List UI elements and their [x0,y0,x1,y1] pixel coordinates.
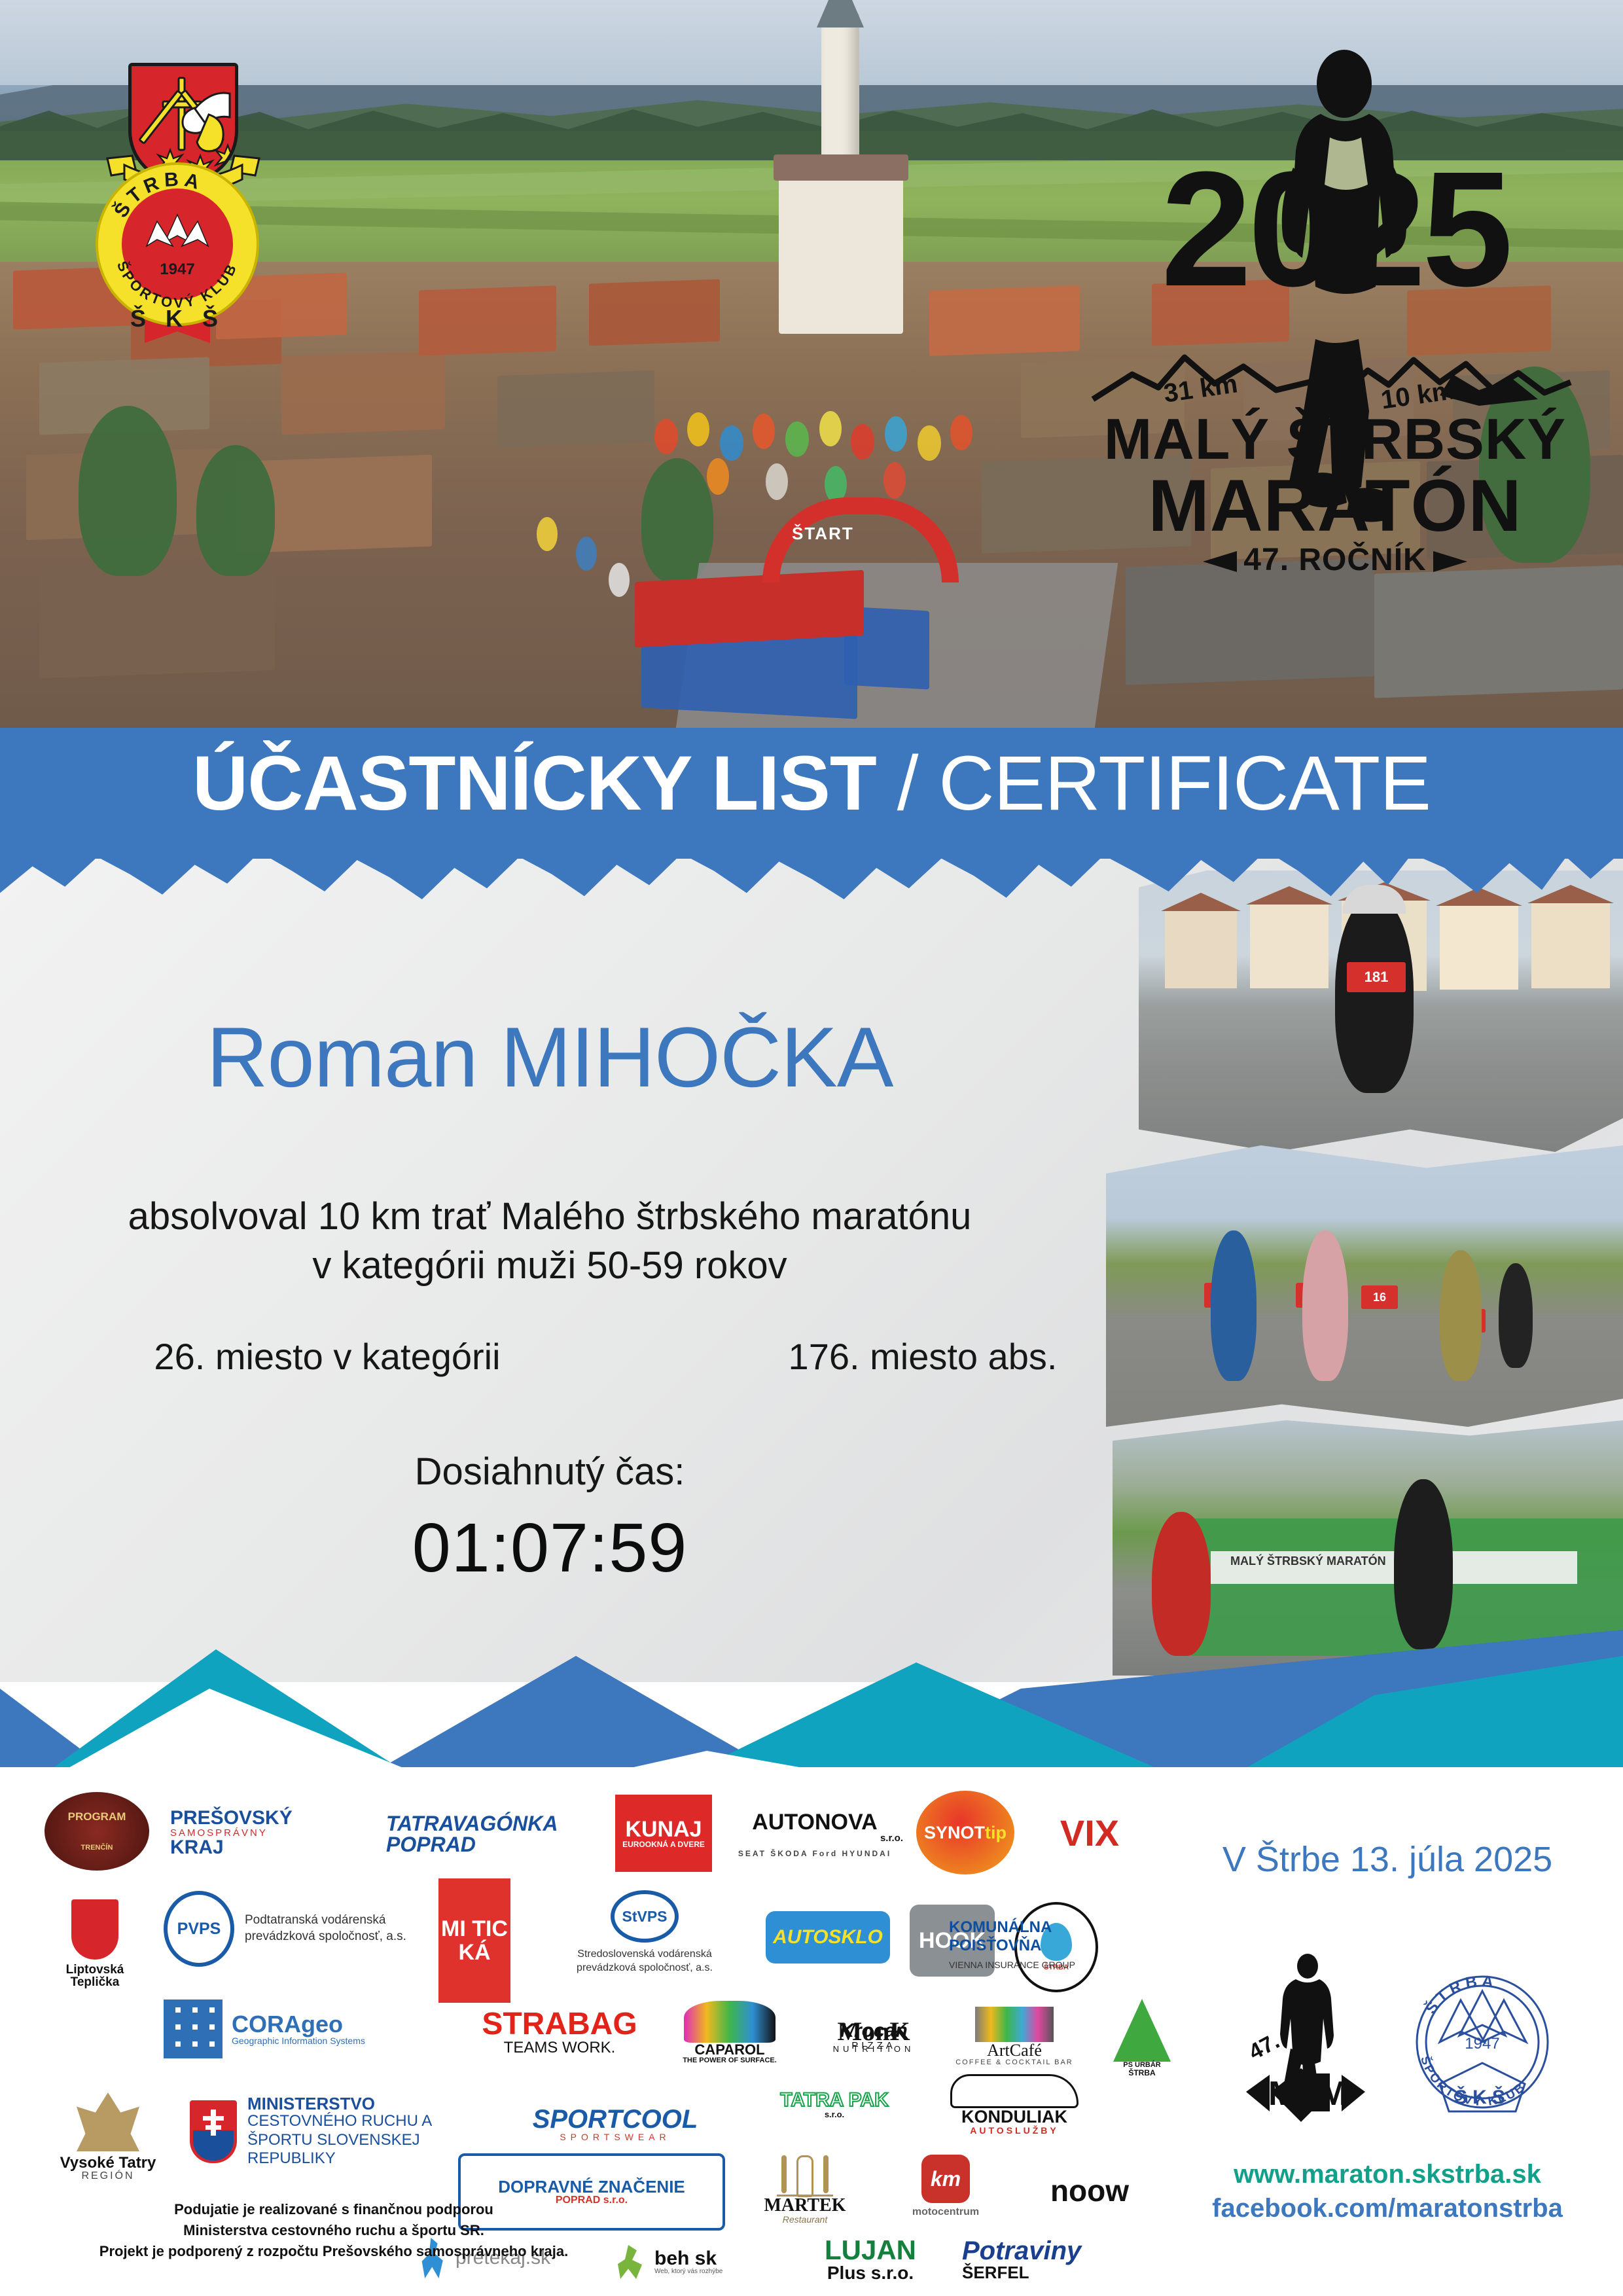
msm-runner-icon: 47. MŠM [1230,1950,1381,2134]
sponsor-sub: TEAMS WORK. [504,2040,616,2056]
sks-stamp-icon: ŠTRBA ŠPORTOVÝ KLUB 1947 ŠKŠ [1400,1944,1564,2134]
sponsor-sub: SPORTSWEAR [560,2132,670,2142]
sponsor-sub: CESTOVNÉHO RUCHU A ŠPORTU SLOVENSKEJ REP… [247,2112,463,2168]
sponsor-logo-monk-nutrition[interactable]: MonK NUTRITION [811,2000,936,2072]
sponsor-sub: TRENČÍN [81,1844,113,1852]
support-line-3: Projekt je podporený z rozpočtu Prešovsk… [92,2241,576,2262]
funding-support-text: Podujatie je realizované s finančnou pod… [92,2199,576,2262]
sponsor-sub: NUTRITION [833,2045,915,2053]
sponsor-logo-artcafe[interactable]: ArtCafé COFFEE & COCKTAIL BAR [949,1994,1080,2079]
sponsor-name: AUTONOVA [752,1811,877,1833]
sponsor-grid: PROGRAM TRENČÍN PREŠOVSKÝ SAMOSPRÁVNY KR… [39,1780,1152,2278]
crowd-person [819,411,842,446]
svg-text:ŠTRBA: ŠTRBA [1421,1972,1498,2017]
sponsor-logo-km-motocentrum[interactable]: km motocentrum [883,2147,1008,2225]
title-english: CERTIFICATE [938,740,1431,827]
sks-mountain-icon [143,213,212,260]
sponsor-name: Potraviny [962,2238,1081,2264]
msm-edition-text: 47. [1245,2028,1284,2065]
sponsor-sub: s.r.o. [825,2110,844,2119]
sponsor-sub: Plus s.r.o. [827,2264,914,2282]
title-slovak: ÚČASTNÍCKY LIST [192,740,876,827]
sponsor-sub: motocentrum [912,2207,979,2217]
sponsor-sub: AUTOSLUŽBY [970,2126,1058,2135]
sponsor-sub: REGIÓN [81,2171,134,2181]
sponsor-name: STRABAG [482,2009,637,2040]
sponsor-sub: Web, ktorý vás rozhýbe [654,2269,722,2275]
crowd-person [766,463,788,500]
sponsor-logo-konduliak[interactable]: KONDULIAK AUTOSLUŽBY [929,2068,1099,2140]
certificate-page: ŠTART [0,0,1623,2296]
sponsor-logo-vysoke-tatry[interactable]: Vysoké Tatry REGIÓN [46,2081,170,2193]
sponsor-name: PREŠOVSKÝ [170,1808,293,1828]
sponsor-name: KONDULIAK [961,2108,1067,2126]
crowd-person [654,419,678,454]
sponsor-name: CORAgeo [232,2013,343,2036]
sponsor-sub: VIENNA INSURANCE GROUP [949,1960,1075,1969]
runner-silhouette-icon [1264,46,1421,530]
sponsor-logo-caparol[interactable]: CAPAROL THE POWER OF SURFACE. [668,1990,792,2075]
tree [196,445,275,576]
stamp-year: 1947 [1465,2035,1499,2053]
sponsor-name: PROGRAM [68,1811,126,1822]
sponsor-logo-autonova[interactable]: AUTONOVA s.r.o. SEAT ŠKODA Ford HYUNDAI [726,1793,903,1874]
sponsor-logo-liptovska-teplicka[interactable]: Liptovská Teplička [46,1892,144,1996]
sponsor-logo-beh-sk[interactable]: beh sk Web, ktorý vás rozhýbe [615,2236,779,2288]
msm-abbrev-text: MŠM [1268,2074,1347,2113]
crowd-person [609,563,630,597]
sponsor-name: ArtCafé [987,2042,1042,2059]
page-title: ÚČASTNÍCKY LIST / CERTIFICATE [0,745,1623,822]
church-roof [774,154,908,181]
sponsor-logo-sportcool[interactable]: SPORTCOOL SPORTSWEAR [524,2088,707,2160]
title-separator: / [897,740,918,827]
description-line-1: absolvoval 10 km trať Malého štrbského m… [0,1194,1099,1238]
crowd-person [707,458,729,495]
sponsor-brands: SEAT ŠKODA Ford HYUNDAI [738,1850,891,1857]
crowd-person [950,415,972,450]
start-arch-label: ŠTART [792,524,854,544]
sponsor-sub: COFFEE & COCKTAIL BAR [955,2059,1073,2066]
sks-year: 1947 [96,260,259,279]
sponsor-sub: Teplička [71,1976,120,1988]
sponsor-logo-miticka[interactable]: MI TIC KÁ [438,1878,510,2003]
sponsor-logo-tatrapak[interactable]: TATRA PAK s.r.o. [766,2075,903,2134]
collage-photo-runners: 122 135 16 173 [1106,1145,1623,1427]
sponsor-name: MI TIC KÁ [438,1917,510,1964]
sks-stamp-logo: ŠTRBA ŠPORTOVÝ KLUB 1947 ŠKŠ [1400,1944,1564,2134]
crowd-person [720,425,743,461]
sponsor-sub: Restaurant [783,2215,827,2224]
facebook-url[interactable]: facebook.com/maratonstrba [1171,2194,1603,2223]
sponsor-logo-komunalna-poistovna[interactable]: KOMUNÁLNA POISŤOVŇA VIENNA INSURANCE GRO… [949,1905,1145,1983]
crowd-person [753,414,775,449]
sponsor-logo-vix[interactable]: VIX [1034,1791,1145,1876]
sponsor-name: VIX [1060,1815,1119,1852]
sponsor-sub: THE POWER OF SURFACE. [683,2057,777,2064]
sponsor-name: AUTOSKLO [773,1928,883,1947]
athlete-name: Roman MIHOČKA [0,1008,1099,1106]
sponsor-logo-synottip[interactable]: SYNOTtip [916,1791,1014,1874]
sponsor-logo-strabag[interactable]: STRABAG TEAMS WORK. [471,1996,648,2068]
sponsor-logo-potraviny-serfel[interactable]: Potraviny ŠERFEL [962,2227,1145,2292]
sponsor-name: Vysoké Tatry [60,2155,156,2171]
hero-photo: ŠTART [0,0,1623,733]
sponsor-sub: tip [985,1824,1007,1842]
sponsor-logo-ministerstvo[interactable]: MINISTERSTVO CESTOVNÉHO RUCHU A ŠPORTU S… [190,2083,504,2181]
website-url[interactable]: www.maraton.skstrba.sk [1171,2160,1603,2189]
finish-time-label: Dosiahnutý čas: [0,1450,1099,1494]
marathon-masthead: 2025 31 km 10 km [1086,39,1584,602]
date-and-place: V Štrbe 13. júla 2025 [1171,1839,1603,1880]
sponsor-name: CAPAROL [694,2043,764,2057]
church-body [779,170,903,334]
photo-collage: 181 122 135 16 173 MALÝ ŠTRBSKÝ MARATÓN [1106,864,1623,1676]
sponsor-name: beh sk [654,2249,717,2269]
crowd-person [918,425,941,461]
sponsor-name: MARTEK [764,2197,846,2215]
place-absolute: 176. miesto abs. [694,1335,1152,1378]
pvps-badge: PVPS [164,1891,234,1967]
place-in-category: 26. miesto v kategórii [72,1335,582,1378]
race-bib-number: 181 [1347,962,1406,992]
sponsor-name: MonK [837,2018,910,2045]
footer-right-zone: V Štrbe 13. júla 2025 47. MŠM [1171,1793,1603,2278]
sponsor-name: PS URBÁR [1123,2062,1160,2069]
sponsor-logo-corageo[interactable]: CORAgeo Geographic Information Systems [164,1990,438,2068]
sponsor-sub: Stredoslovenská vodárenská prevádzková s… [546,1948,743,1975]
sponsor-name: LUJAN [825,2236,916,2264]
sponsor-footer: PROGRAM TRENČÍN PREŠOVSKÝ SAMOSPRÁVNY KR… [0,1767,1623,2296]
crowd-person [851,424,874,459]
sponsor-sub: POPRAD [386,1834,476,1855]
sponsor-name: SYNOT [924,1824,985,1842]
sponsor-sub: ŠERFEL [962,2264,1029,2281]
sponsor-sub: Geographic Information Systems [232,2036,365,2045]
sponsor-sub: Podtatranská vodárenská prevádzková spol… [245,1912,428,1945]
crowd-person [785,422,809,457]
stamp-abbrev: ŠKŠ [1454,2086,1510,2108]
title-band: ÚČASTNÍCKY LIST / CERTIFICATE [0,728,1623,859]
sponsor-logo-stvps[interactable]: StVPS Stredoslovenská vodárenská prevádz… [537,1890,753,1975]
sponsor-logo-pvps[interactable]: PVPS Podtatranská vodárenská prevádzková… [164,1893,438,1965]
description-line-2: v kategórii muži 50-59 rokov [0,1244,1099,1287]
sponsor-logo-noow[interactable]: noow [1034,2155,1145,2227]
msm-logo: 47. MŠM [1230,1950,1381,2134]
sponsor-logo-presovsky-kraj[interactable]: PREŠOVSKÝ SAMOSPRÁVNY KRAJ [170,1800,353,1865]
support-line-1: Podujatie je realizované s finančnou pod… [92,2199,576,2220]
sponsor-name: TATRA PAK [780,2090,889,2110]
crowd-person [883,462,906,499]
marathon-edition: 47. ROČNÍK [1086,542,1584,578]
crowd-person [537,517,558,551]
sponsor-name: noow [1050,2176,1129,2206]
sponsor-sub: EUROOKNÁ A DVERE [622,1840,705,1848]
support-line-2: Ministerstva cestovného ruchu a športu S… [92,2220,576,2241]
sponsor-name: Liptovská [66,1964,124,1976]
sks-abbrev: Š K Š [96,305,259,332]
sponsor-name: DOPRAVNÉ ZNAČENIE [498,2178,685,2195]
finish-time-value: 01:07:59 [0,1509,1099,1588]
sponsor-logo-program-trencin[interactable]: PROGRAM TRENČÍN [45,1792,149,1871]
sponsor-logo-kunaj[interactable]: KUNAJ EUROOKNÁ A DVERE [615,1795,712,1872]
crowd-person [576,537,597,571]
sponsor-name: KOMUNÁLNA POISŤOVŇA [949,1918,1145,1954]
sponsor-logo-lujan-plus[interactable]: LUJAN Plus s.r.o. [798,2227,942,2292]
sponsor-sub: ŠTRBA [1128,2069,1155,2077]
sponsor-name: MINISTERSTVO [247,2095,375,2112]
crowd-person [885,416,907,452]
collage-photo-finisher: 181 [1139,870,1623,1152]
sponsor-name: KUNAJ [625,1818,702,1840]
sponsor-logo-martek[interactable]: MARTEK Restaurant [746,2147,864,2232]
sponsor-logo-autosklo-servis[interactable]: AUTOSKLO [766,1911,890,1964]
tree [79,406,177,576]
sponsor-logo-tatravagonka[interactable]: TATRAVAGÓNKA POPRAD [386,1803,576,1865]
sks-club-logo: ŠTRBA ŠPORTOVÝ KLUB 1947 Š K Š [96,162,259,326]
sponsor-sub2: KRAJ [170,1838,224,1857]
sponsor-name: SPORTCOOL [533,2106,698,2132]
crowd-person [687,412,709,446]
church-spire [817,0,864,27]
sponsor-name: TATRAVAGÓNKA [386,1813,558,1834]
sponsor-sub: s.r.o. [880,1833,903,1843]
